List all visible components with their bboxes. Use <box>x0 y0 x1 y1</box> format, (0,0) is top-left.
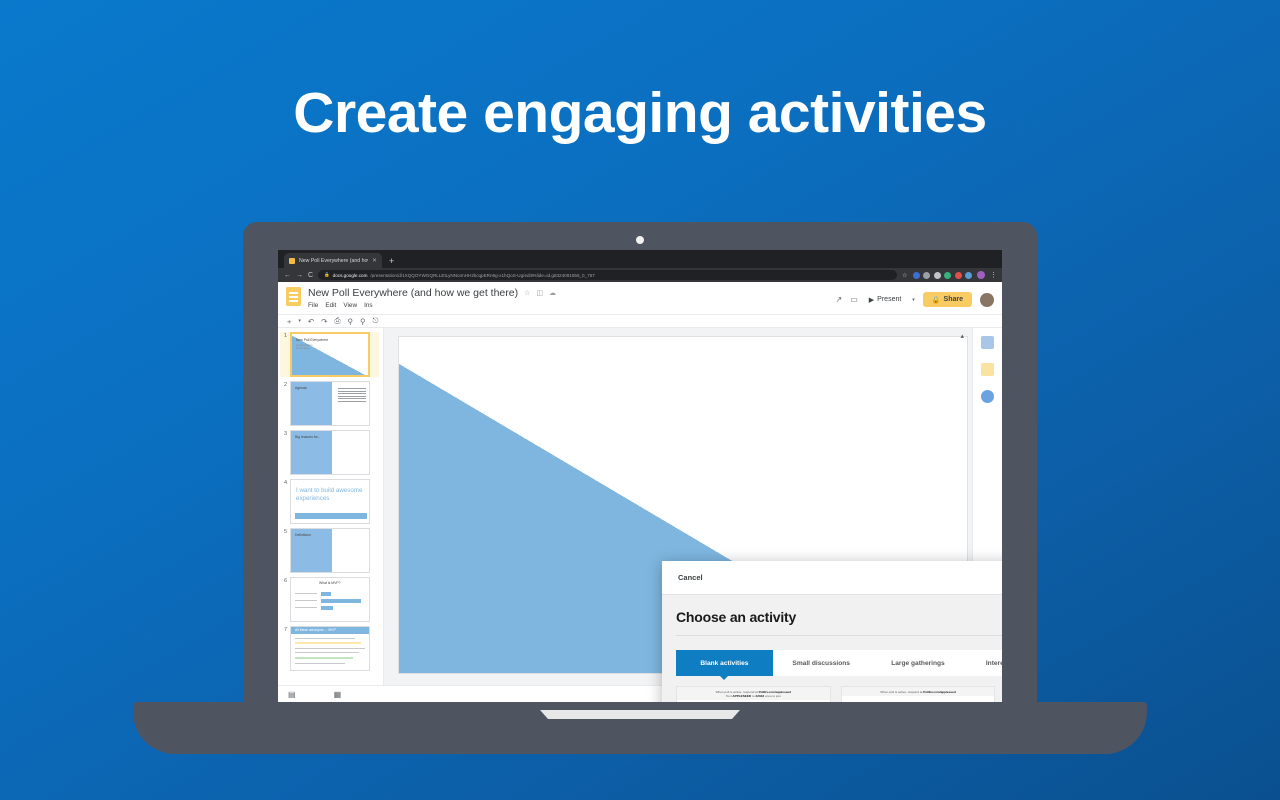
slide-number: 2 <box>280 381 287 388</box>
address-bar[interactable]: 🔒 docs.google.com/presentation/d/1XQQOYW… <box>318 270 897 280</box>
activity-card-word-cloud[interactable]: When poll is active, respond at PollEv.c… <box>841 686 996 702</box>
slide-thumb-lines <box>338 388 366 404</box>
slide-number: 5 <box>280 528 287 535</box>
kebab-menu-icon[interactable]: ⋮ <box>990 271 996 279</box>
activity-cards-scroll[interactable]: When poll is active, respond at PollEv.c… <box>676 686 1002 702</box>
slide-thumbnail[interactable]: Agenda <box>290 381 370 426</box>
slide-thumb-title: What is MVP? <box>319 581 340 585</box>
speaker-notes-icon[interactable]: ▤ <box>288 690 296 699</box>
print-icon[interactable]: ⎙ <box>335 316 341 326</box>
redo-icon[interactable]: ↷ <box>321 317 327 326</box>
cloud-status-icon: ☁ <box>549 289 556 297</box>
notes-panel-icon[interactable] <box>981 363 994 376</box>
grid-view-icon[interactable]: ▦ <box>334 690 342 699</box>
slide-thumbnail[interactable]: What is MVP? <box>290 577 370 622</box>
chart-panel-icon[interactable] <box>981 336 994 349</box>
url-host: docs.google.com <box>333 273 368 278</box>
present-button[interactable]: ▶ Present <box>866 294 905 306</box>
poll-banner-url: PollEv.com/appleseed <box>923 690 955 694</box>
poll-banner: When poll is active, respond at PollEv.c… <box>677 687 830 700</box>
tab-blank-activities[interactable]: Blank activities <box>676 650 773 676</box>
tab-interesting-visuals[interactable]: Interesting visuals <box>966 650 1002 676</box>
activity-category-tabs: Blank activities Small discussions Large… <box>676 650 1002 676</box>
slide-thumb-title: New Poll Everywhere <box>296 338 328 342</box>
new-tab-button[interactable]: + <box>389 256 394 266</box>
lock-share-icon: 🔒 <box>932 296 941 304</box>
paint-format-icon[interactable]: ⚲ <box>348 317 354 326</box>
poll-banner-keyword: APPLESEED <box>732 694 751 698</box>
zoom-icon[interactable]: ⚲ <box>360 317 366 326</box>
menu-bar: File Edit View Ins <box>308 302 556 309</box>
card-preview: Untitled word cloud lasagna flower brocc… <box>842 696 995 702</box>
webcam-icon <box>636 236 644 244</box>
reload-icon[interactable]: C <box>308 272 313 279</box>
tab-title: New Poll Everywhere (and how <box>299 258 368 264</box>
slides-header-actions: ↗ ▭ ▶ Present ▾ 🔒 Share <box>836 287 994 307</box>
profile-avatar-icon[interactable] <box>977 271 985 279</box>
comment-icon[interactable]: ▭ <box>850 295 858 304</box>
extensions-row <box>913 272 973 279</box>
modal-body: Choose an activity Blank activities Smal… <box>662 595 1002 702</box>
present-play-icon: ▶ <box>869 296 874 304</box>
menu-view[interactable]: View <box>343 302 357 309</box>
slide-number: 4 <box>280 479 287 486</box>
slides-file-icon <box>286 287 301 306</box>
slide-thumb-sub: A presentationby the team <box>296 344 313 351</box>
forward-icon[interactable]: → <box>296 272 303 279</box>
present-caret-icon[interactable]: ▾ <box>912 297 915 303</box>
slide-number: 3 <box>280 430 287 437</box>
slide-thumb-title: I want to build awesome experiences <box>296 487 369 503</box>
browser-toolbar: ← → C 🔒 docs.google.com/presentation/d/1… <box>278 268 1002 282</box>
toolbar-caret-icon[interactable]: ▾ <box>298 318 301 324</box>
list-item[interactable]: 5 Definitions <box>280 528 379 573</box>
page-title: Create engaging activities <box>0 78 1280 148</box>
slide-thumbnail[interactable]: New Poll Everywhere A presentationby the… <box>290 332 370 377</box>
undo-icon[interactable]: ↶ <box>308 317 314 326</box>
list-item[interactable]: 3 Big reasons for... <box>280 430 379 475</box>
browser-tab[interactable]: New Poll Everywhere (and how ✕ <box>284 253 382 268</box>
slide-filmstrip[interactable]: 1 New Poll Everywhere A presentationby t… <box>278 328 384 688</box>
poll-banner: When poll is active, respond at PollEv.c… <box>842 687 995 696</box>
activity-cards-grid: When poll is active, respond at PollEv.c… <box>676 686 1002 702</box>
slide-thumb-title: All these acronyms ... MVP <box>295 628 336 632</box>
slide-thumb-title: Big reasons for... <box>295 435 320 439</box>
slide-thumb-title: Definitions <box>295 533 311 537</box>
slide-graphic <box>295 513 367 519</box>
card-preview: Untitled multiple choice question A19% B… <box>677 700 830 702</box>
poll-banner-number: 22333 <box>755 694 764 698</box>
collapse-caret-icon[interactable]: ▴ <box>960 332 964 340</box>
cancel-button[interactable]: Cancel <box>678 573 703 582</box>
slide-number: 6 <box>280 577 287 584</box>
poll-banner-post: once to join <box>764 694 781 698</box>
modal-topbar: Cancel <box>662 561 1002 595</box>
list-item[interactable]: 4 I want to build awesome experiences <box>280 479 379 524</box>
slide-number: 1 <box>280 332 287 339</box>
activity-dashboard-icon[interactable]: ↗ <box>836 295 843 304</box>
close-icon[interactable]: ✕ <box>372 257 377 264</box>
slide-thumbnail[interactable]: Big reasons for... <box>290 430 370 475</box>
list-item[interactable]: 1 New Poll Everywhere A presentationby t… <box>280 332 379 377</box>
slide-thumbnail[interactable]: I want to build awesome experiences <box>290 479 370 524</box>
laptop-base <box>133 702 1147 754</box>
tasks-panel-icon[interactable] <box>981 390 994 403</box>
avatar[interactable] <box>980 293 994 307</box>
slides-toolbar: + ▾ ↶ ↷ ⎙ ⚲ ⚲ ⎋ <box>278 314 1002 328</box>
slide-thumb-title: Agenda <box>295 386 307 390</box>
slide-thumbnail[interactable]: Definitions <box>290 528 370 573</box>
share-button[interactable]: 🔒 Share <box>923 292 972 307</box>
tab-large-gatherings[interactable]: Large gatherings <box>870 650 967 676</box>
poll-banner-line1-pre: When poll is active, respond at <box>880 690 923 694</box>
extension-icon[interactable] <box>934 272 941 279</box>
add-slide-icon[interactable]: + <box>287 317 291 326</box>
list-item[interactable]: 2 Agenda <box>280 381 379 426</box>
extension-icon[interactable] <box>923 272 930 279</box>
document-title[interactable]: New Poll Everywhere (and how we get ther… <box>308 287 518 299</box>
lock-icon: 🔒 <box>324 272 330 278</box>
share-label: Share <box>944 296 963 303</box>
star-icon[interactable]: ☆ <box>524 289 530 297</box>
activity-card-multiple-choice[interactable]: When poll is active, respond at PollEv.c… <box>676 686 831 702</box>
extension-icon[interactable] <box>944 272 951 279</box>
tab-small-discussions[interactable]: Small discussions <box>773 650 870 676</box>
present-label: Present <box>877 296 901 303</box>
menu-edit[interactable]: Edit <box>325 302 336 309</box>
browser-window: New Poll Everywhere (and how ✕ + ← → C 🔒… <box>278 250 1002 702</box>
bookmark-star-icon[interactable]: ☆ <box>902 272 907 279</box>
touchpad-notch <box>540 710 740 719</box>
slide-thumbnail[interactable]: All these acronyms ... MVP <box>290 626 370 671</box>
menu-insert[interactable]: Ins <box>364 302 373 309</box>
back-icon[interactable]: ← <box>284 272 291 279</box>
slides-header: New Poll Everywhere (and how we get ther… <box>278 282 1002 314</box>
menu-file[interactable]: File <box>308 302 318 309</box>
url-path: /presentation/d/1XQQOYWGQRLLEtLyNNonnHH2… <box>370 273 594 278</box>
browser-tab-bar: New Poll Everywhere (and how ✕ + <box>278 250 1002 268</box>
tab-favicon-icon <box>289 258 295 264</box>
choose-activity-modal: Cancel Choose an activity Blank activiti… <box>662 561 1002 702</box>
slide-number: 7 <box>280 626 287 633</box>
move-to-folder-icon[interactable]: ◫ <box>536 289 543 297</box>
list-item[interactable]: 7 All these acronyms ... MVP <box>280 626 379 671</box>
extension-icon[interactable] <box>913 272 920 279</box>
select-icon[interactable]: ⎋ <box>373 316 379 326</box>
extension-icon[interactable] <box>965 272 972 279</box>
modal-title: Choose an activity <box>676 595 1002 636</box>
extension-icon[interactable] <box>955 272 962 279</box>
list-item[interactable]: 6 What is MVP? <box>280 577 379 622</box>
